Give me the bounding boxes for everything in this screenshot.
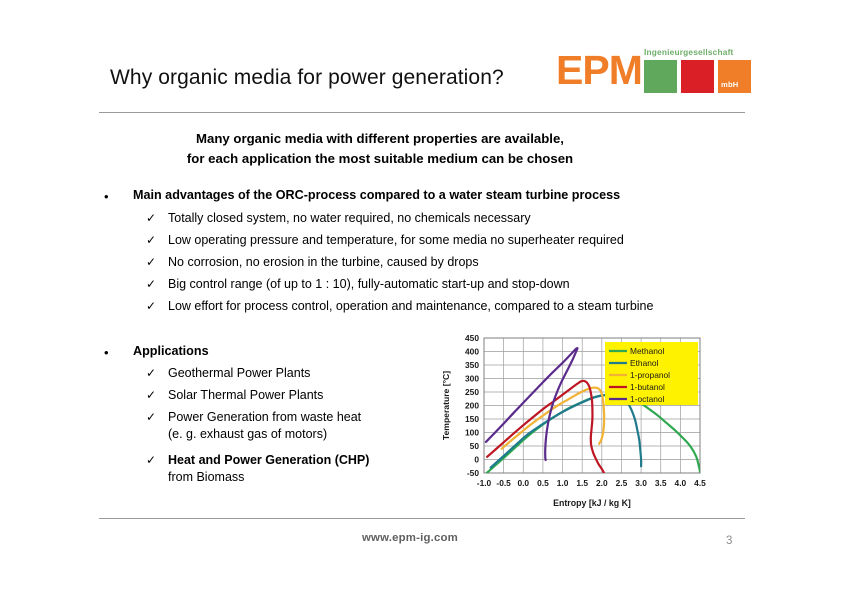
slide: Why organic media for power generation? …	[0, 0, 842, 595]
chart-svg: -1.0-0.50.00.51.01.52.02.53.03.54.04.5-5…	[437, 328, 723, 513]
svg-text:300: 300	[465, 374, 479, 384]
svg-text:350: 350	[465, 360, 479, 370]
section-1-heading: Main advantages of the ORC-process compa…	[133, 188, 620, 202]
check-item-label: No corrosion, no erosion in the turbine,…	[168, 254, 479, 271]
footer-divider	[99, 518, 745, 519]
svg-text:3.0: 3.0	[635, 478, 647, 488]
check-icon: ✓	[146, 232, 156, 249]
svg-text:1-propanol: 1-propanol	[630, 370, 670, 380]
headline-line-2: for each application the most suitable m…	[0, 149, 760, 169]
logo-wordmark: EPM	[556, 48, 642, 92]
svg-text:450: 450	[465, 333, 479, 343]
check-item-label: Power Generation from waste heat	[168, 409, 361, 426]
check-item-label: Totally closed system, no water required…	[168, 210, 531, 227]
check-icon: ✓	[146, 210, 156, 227]
check-icon: ✓	[146, 387, 156, 404]
svg-text:2.0: 2.0	[596, 478, 608, 488]
svg-text:3.5: 3.5	[655, 478, 667, 488]
svg-text:400: 400	[465, 347, 479, 357]
svg-text:-50: -50	[467, 468, 479, 478]
svg-text:Methanol: Methanol	[630, 346, 665, 356]
check-icon: ✓	[146, 452, 156, 469]
check-item-label: Solar Thermal Power Plants	[168, 387, 323, 404]
check-icon: ✓	[146, 276, 156, 293]
logo-square-green	[644, 60, 677, 93]
page-title: Why organic media for power generation?	[110, 66, 504, 90]
svg-text:2.5: 2.5	[616, 478, 628, 488]
svg-text:-1.0: -1.0	[477, 478, 492, 488]
check-item-label: Geothermal Power Plants	[168, 365, 310, 382]
svg-text:250: 250	[465, 387, 479, 397]
svg-text:4.0: 4.0	[675, 478, 687, 488]
svg-text:200: 200	[465, 401, 479, 411]
svg-text:150: 150	[465, 414, 479, 424]
svg-text:Temperature [°C]: Temperature [°C]	[441, 371, 451, 440]
svg-text:0.0: 0.0	[517, 478, 529, 488]
page-number: 3	[726, 535, 732, 547]
logo-suffix: mbH	[721, 80, 738, 89]
check-item-label: Low operating pressure and temperature, …	[168, 232, 624, 249]
headline: Many organic media with different proper…	[0, 129, 760, 169]
check-icon: ✓	[146, 409, 156, 426]
check-item-label: Big control range (of up to 1 : 10), ful…	[168, 276, 570, 293]
check-icon: ✓	[146, 254, 156, 271]
epm-logo: EPM Ingenieurgesellschaft mbH	[556, 44, 752, 102]
svg-text:100: 100	[465, 428, 479, 438]
check-item-label: Low effort for process control, operatio…	[168, 298, 653, 315]
svg-text:1-octanol: 1-octanol	[630, 394, 665, 404]
check-icon: ✓	[146, 365, 156, 382]
section-2-heading: Applications	[133, 344, 209, 358]
check-icon: ✓	[146, 298, 156, 315]
footer-url: www.epm-ig.com	[0, 532, 820, 544]
logo-subtitle: Ingenieurgesellschaft	[644, 47, 734, 57]
svg-text:-0.5: -0.5	[496, 478, 511, 488]
svg-text:0: 0	[474, 455, 479, 465]
check-item-label-continued: (e. g. exhaust gas of motors)	[168, 426, 327, 443]
temperature-entropy-chart: -1.0-0.50.00.51.01.52.02.53.03.54.04.5-5…	[437, 328, 723, 513]
logo-square-red	[681, 60, 714, 93]
check-item-label-continued: from Biomass	[168, 469, 244, 486]
section-2-bullet: •	[104, 346, 109, 359]
check-item-label: Heat and Power Generation (CHP)	[168, 452, 369, 469]
svg-text:0.5: 0.5	[537, 478, 549, 488]
section-1-bullet: •	[104, 190, 109, 203]
svg-text:1.5: 1.5	[576, 478, 588, 488]
svg-text:Entropy [kJ / kg K]: Entropy [kJ / kg K]	[553, 498, 631, 508]
headline-line-1: Many organic media with different proper…	[0, 129, 760, 149]
svg-text:1-butanol: 1-butanol	[630, 382, 665, 392]
svg-text:1.0: 1.0	[557, 478, 569, 488]
header-divider	[99, 112, 745, 113]
svg-text:Ethanol: Ethanol	[630, 358, 659, 368]
svg-text:4.5: 4.5	[694, 478, 706, 488]
svg-text:50: 50	[470, 441, 480, 451]
